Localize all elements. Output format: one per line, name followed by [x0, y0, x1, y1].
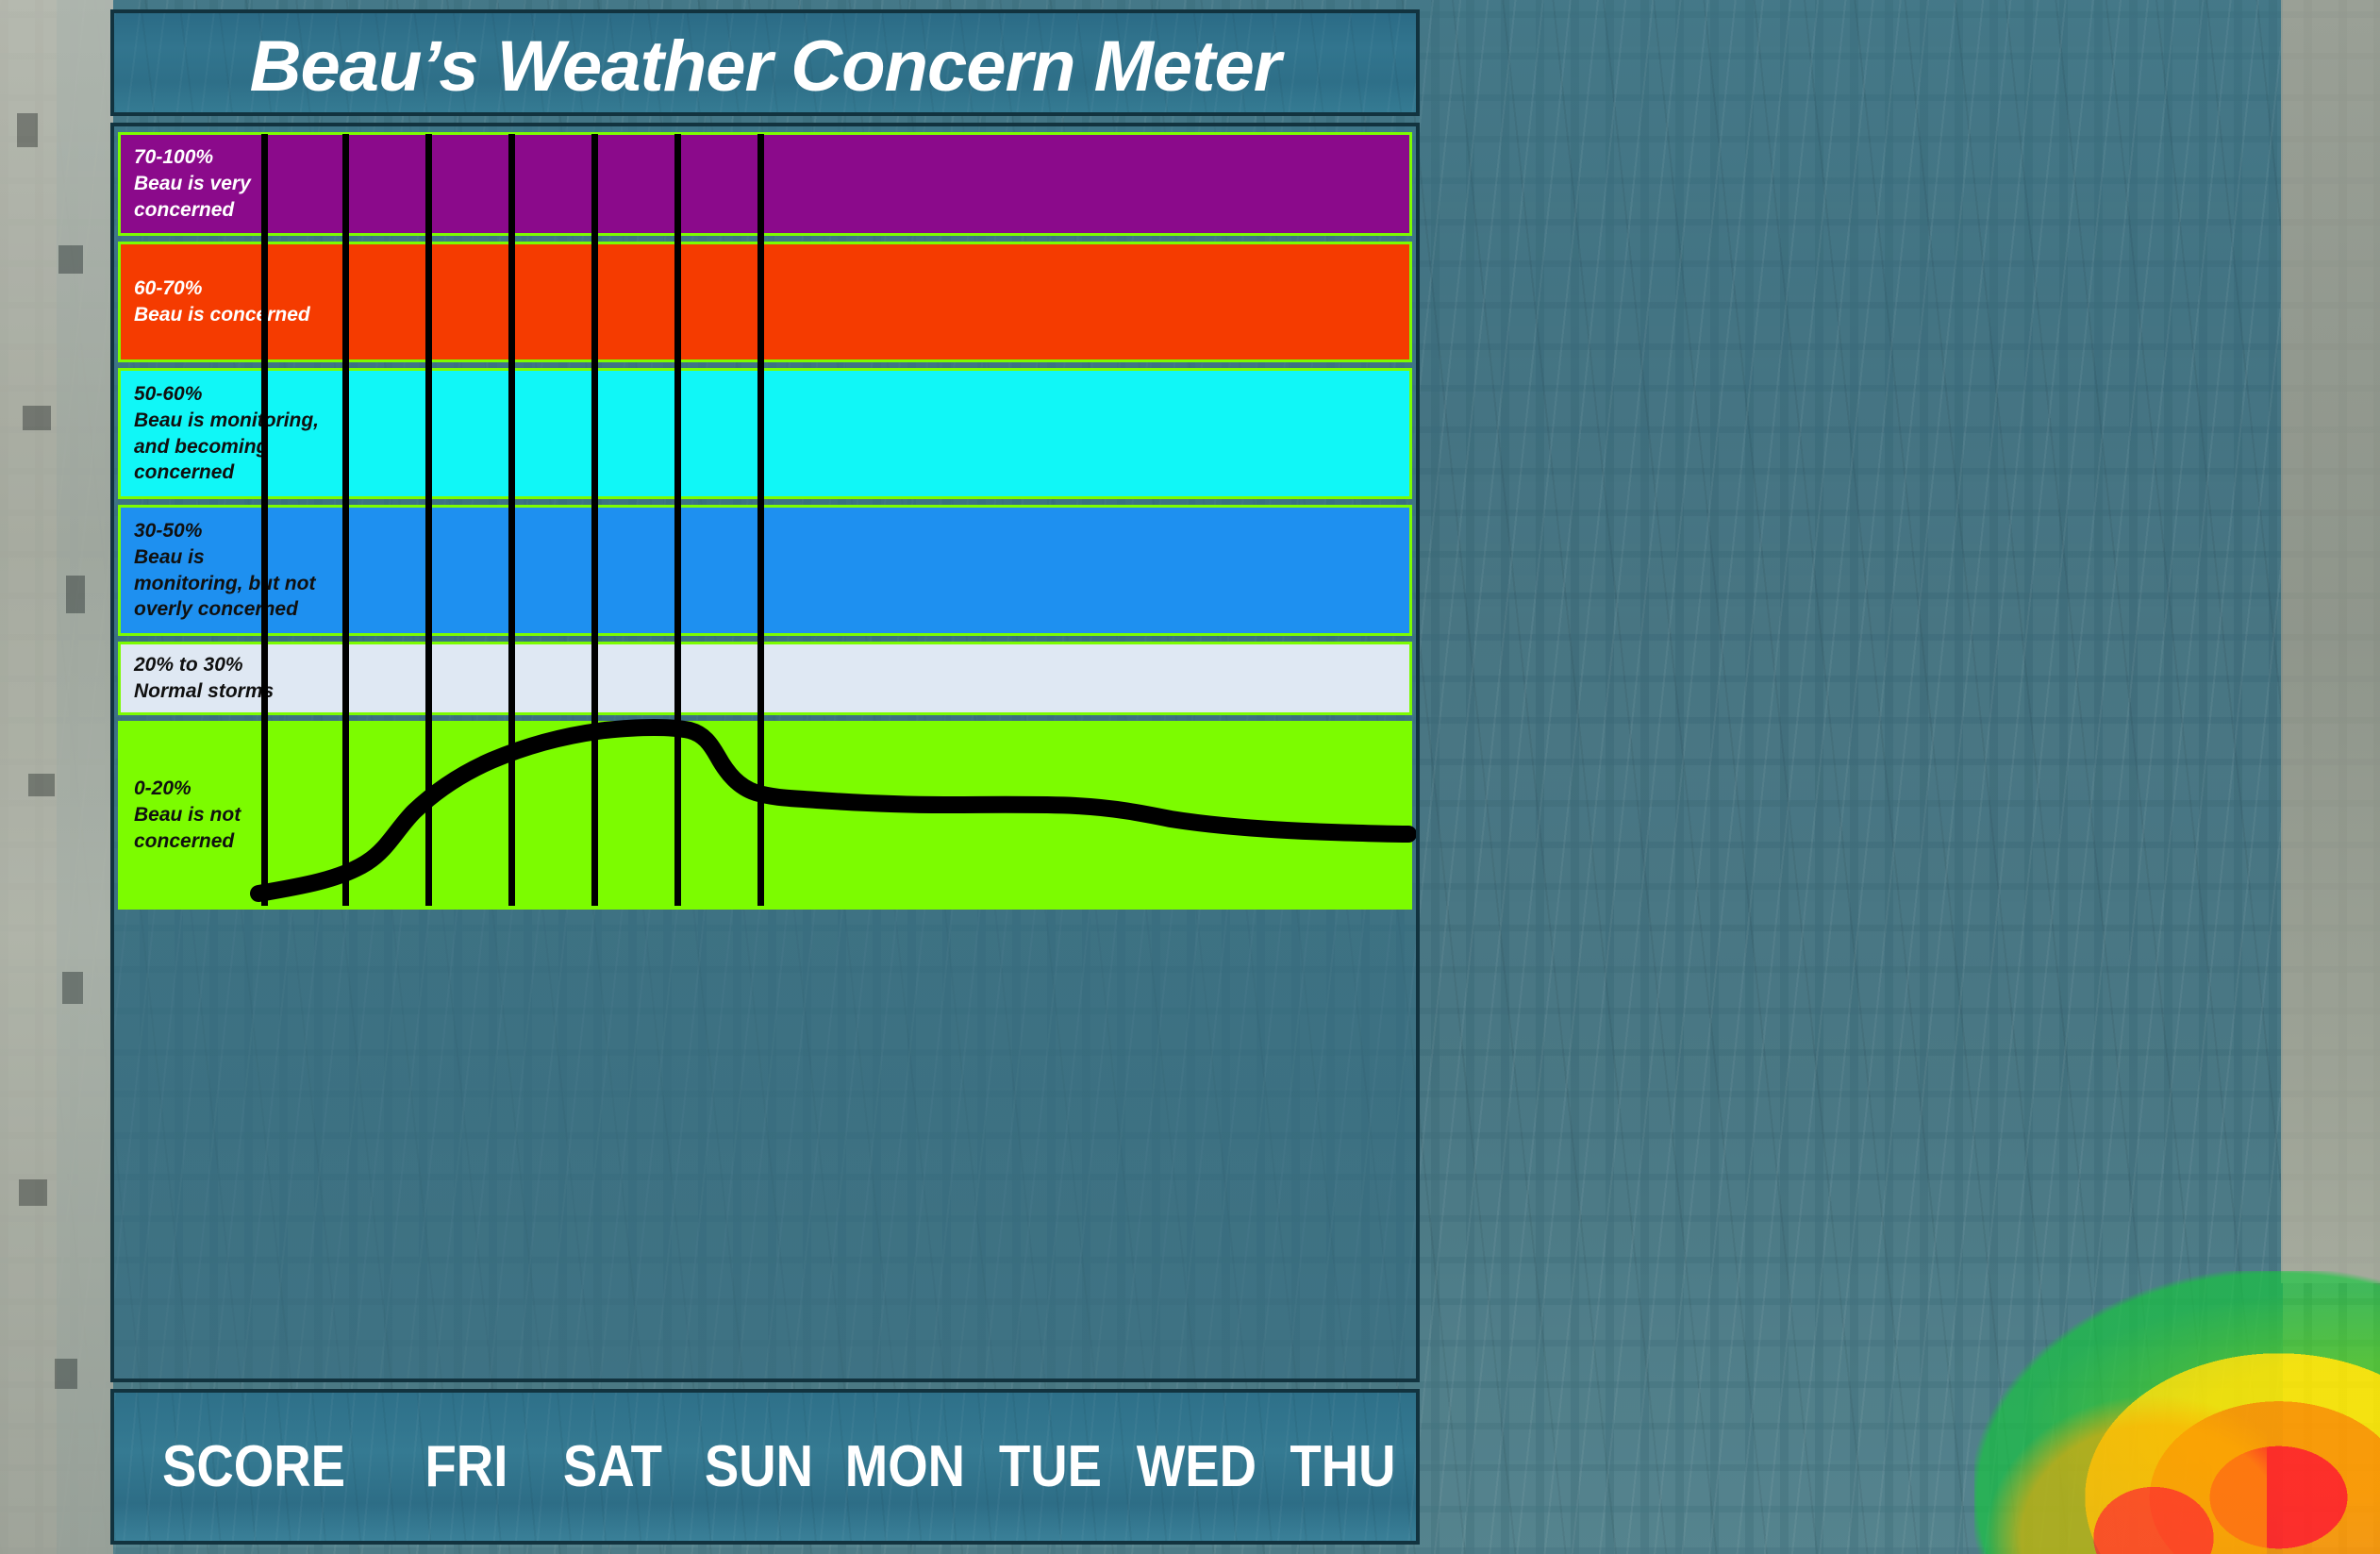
day-label-wed: WED — [1133, 1433, 1261, 1500]
chart-plot-area: 70-100% Beau is very concerned 60-70% Be… — [114, 126, 1416, 1379]
title-bar: Beau’s Weather Concern Meter — [110, 9, 1420, 116]
concern-trend-line — [114, 126, 1416, 1379]
day-label-thu: THU — [1278, 1433, 1406, 1500]
day-axis-bar: SCORE FRI SAT SUN MON TUE WED THU — [110, 1389, 1420, 1545]
concern-meter-chart: 70-100% Beau is very concerned 60-70% Be… — [110, 123, 1420, 1382]
day-label-tue: TUE — [987, 1433, 1115, 1500]
day-label-fri: FRI — [402, 1433, 530, 1500]
day-label-sat: SAT — [548, 1433, 676, 1500]
page-title: Beau’s Weather Concern Meter — [114, 13, 1416, 116]
background-left-strip — [0, 0, 113, 1554]
day-label-sun: SUN — [694, 1433, 823, 1500]
day-label-mon: MON — [840, 1433, 969, 1500]
day-labels-row: SCORE FRI SAT SUN MON TUE WED THU — [114, 1393, 1416, 1541]
radar-storm-cell-secondary — [1984, 1394, 2267, 1554]
background-right-strip — [2281, 0, 2380, 1283]
score-label: SCORE — [131, 1433, 376, 1500]
